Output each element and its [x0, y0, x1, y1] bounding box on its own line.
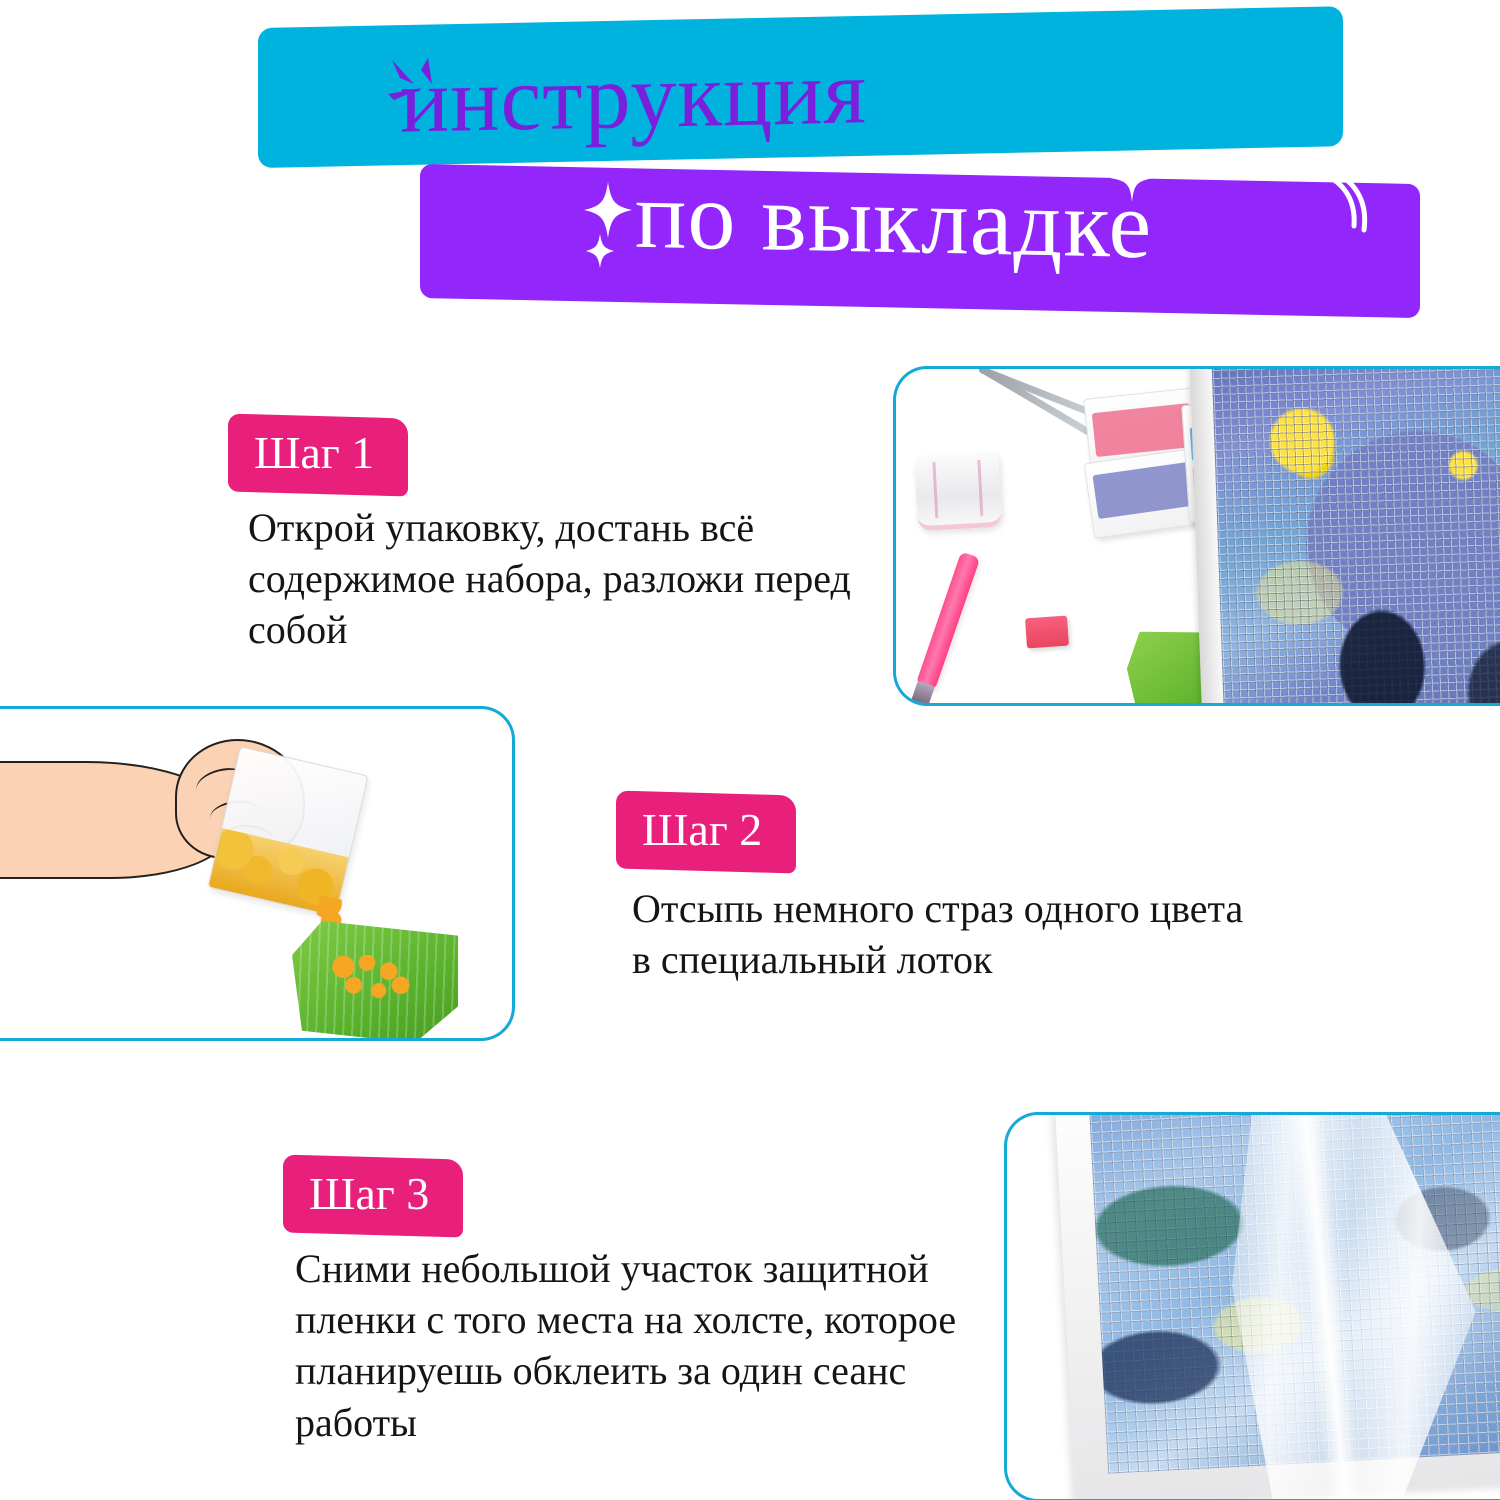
step-badge-2-label: Шаг 2	[642, 807, 762, 853]
step-text-2: Отсыпь немного страз одного цвета в спец…	[632, 883, 1252, 985]
step-badge-3: Шаг 3	[283, 1154, 463, 1237]
page-title-line2: по выкладке	[635, 167, 1152, 273]
bead-tray-icon	[292, 921, 458, 1041]
diamond-mosaic-canvas	[1211, 366, 1500, 706]
wax-block-icon	[1025, 616, 1069, 649]
step-image-1	[893, 366, 1500, 706]
step-image-3	[1004, 1112, 1500, 1500]
step-text-3: Сними небольшой участок защитной пленки …	[295, 1243, 975, 1448]
step-badge-3-label: Шаг 3	[309, 1171, 429, 1217]
infographic-page: инструкция по выкладке Шаг 1 Открой упак…	[0, 0, 1500, 1500]
page-title-line1: инструкция	[400, 45, 867, 146]
step-text-1: Открой упаковку, достань всё содержимое …	[248, 502, 888, 656]
wax-container-icon	[914, 453, 1002, 531]
step-image-2	[0, 706, 515, 1041]
header: инструкция по выкладке	[0, 0, 1500, 330]
canvas-frame	[1055, 1112, 1500, 1500]
step-badge-2: Шаг 2	[616, 790, 796, 873]
step-badge-1: Шаг 1	[228, 413, 408, 496]
step-badge-1-label: Шаг 1	[254, 430, 374, 476]
applicator-pen-icon	[916, 552, 980, 691]
